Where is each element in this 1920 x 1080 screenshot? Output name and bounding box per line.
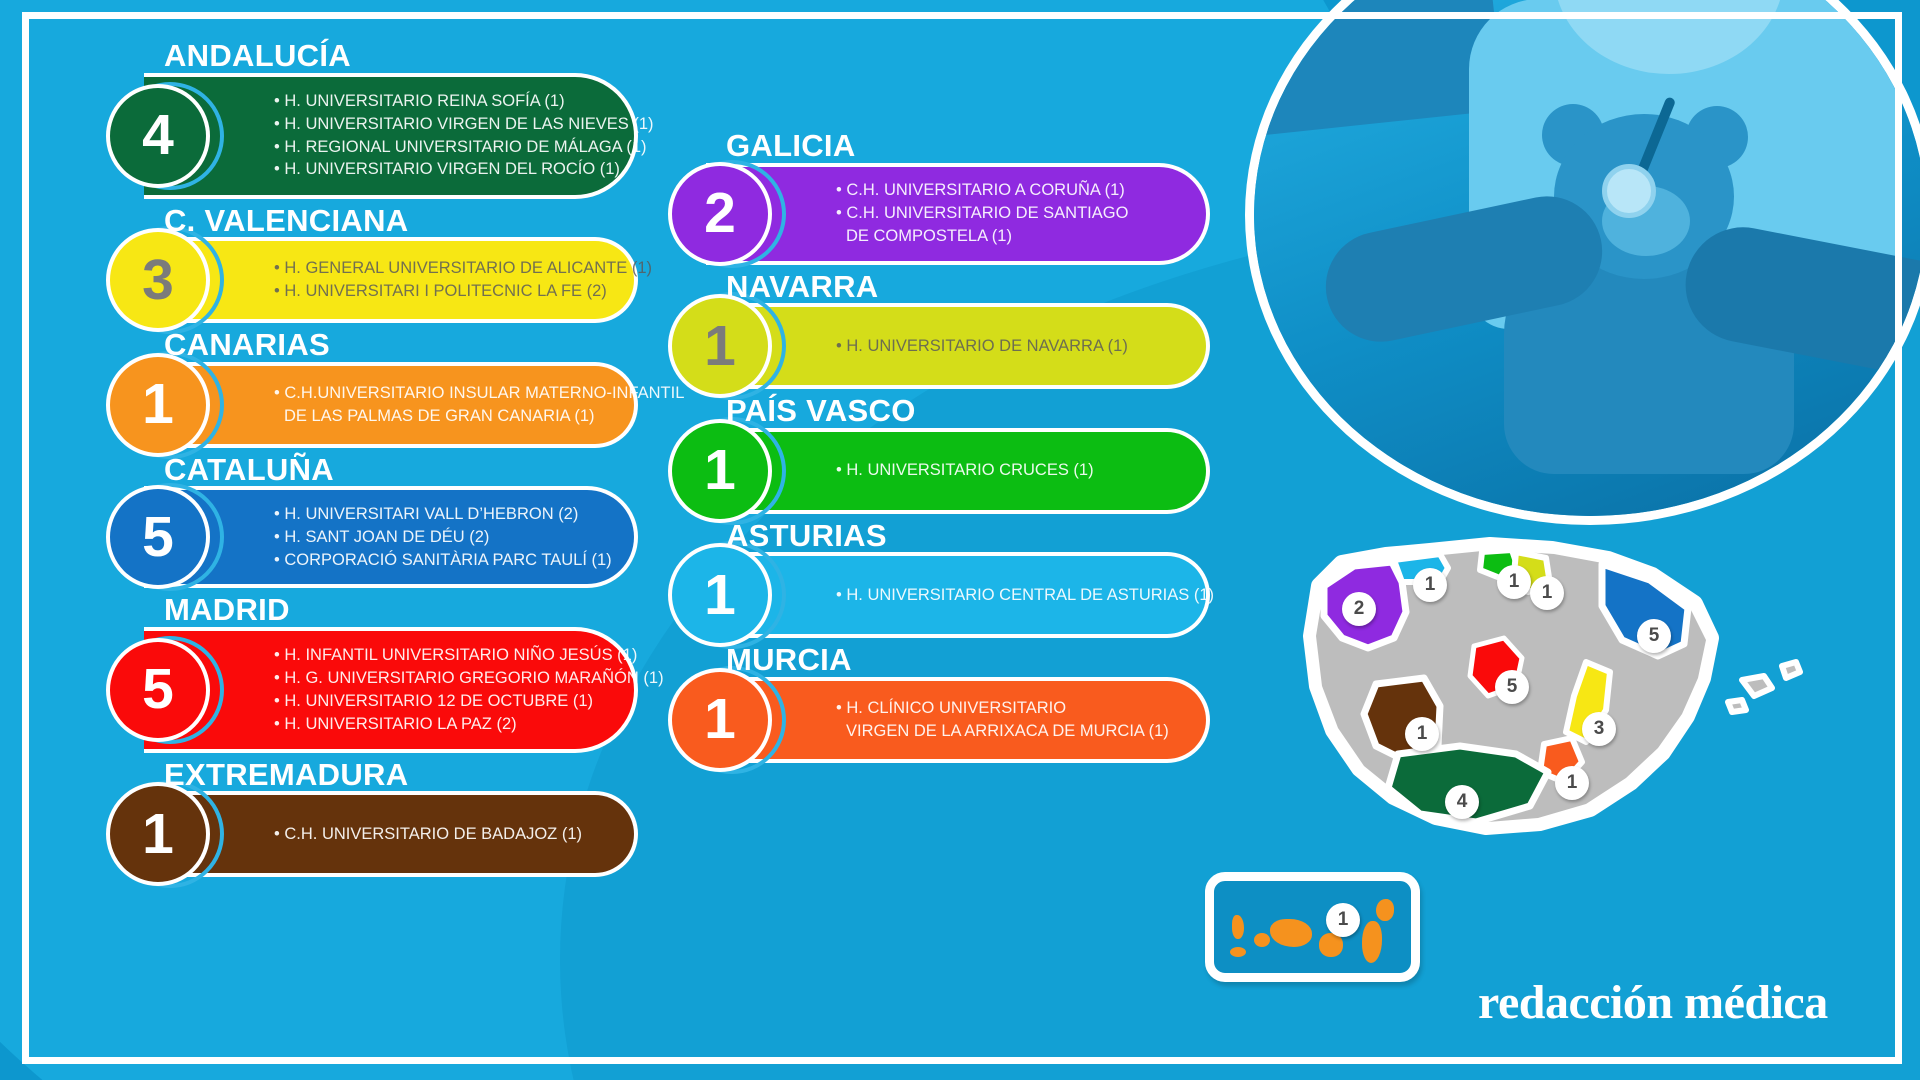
canary-isle-el-hierro bbox=[1230, 947, 1246, 957]
hospital-list-item: • C.H. UNIVERSITARIO DE BADAJOZ (1) bbox=[274, 823, 582, 846]
region-title: NAVARRA bbox=[726, 271, 1210, 304]
stethoscope-chestpiece-icon bbox=[1602, 164, 1656, 218]
hospital-list: • H. UNIVERSITARIO CRUCES (1) bbox=[836, 459, 1094, 482]
photo-circle-child-with-teddy bbox=[1245, 0, 1920, 525]
region-count-bubble[interactable]: 1 bbox=[106, 782, 210, 886]
hospital-list-item: VIRGEN DE LA ARRIXACA DE MURCIA (1) bbox=[836, 720, 1169, 743]
map-marker-extremadura: 1 bbox=[1405, 717, 1439, 751]
region-title: GALICIA bbox=[726, 130, 1210, 163]
region-title: CATALUÑA bbox=[164, 454, 638, 487]
canary-islands-inset: 1 bbox=[1205, 872, 1420, 982]
hospital-list: • H. INFANTIL UNIVERSITARIO NIÑO JESÚS (… bbox=[274, 644, 664, 735]
canary-isle-tenerife bbox=[1270, 919, 1312, 947]
region-column-right: GALICIA• C.H. UNIVERSITARIO A CORUÑA (1)… bbox=[640, 130, 1210, 769]
hospital-list-item: • H. UNIVERSITARIO CRUCES (1) bbox=[836, 459, 1094, 482]
region-count-bubble[interactable]: 1 bbox=[668, 668, 772, 772]
hospital-list-item: • CORPORACIÓ SANITÀRIA PARC TAULÍ (1) bbox=[274, 549, 612, 572]
hospital-list: • H. UNIVERSITARIO REINA SOFÍA (1)• H. U… bbox=[274, 90, 654, 181]
canary-isle-la-palma bbox=[1232, 915, 1244, 939]
hospital-list: • H. CLÍNICO UNIVERSITARIOVIRGEN DE LA A… bbox=[836, 697, 1169, 743]
region-title: MADRID bbox=[164, 594, 638, 627]
map-marker-c-valenciana: 3 bbox=[1582, 712, 1616, 746]
map-marker-murcia: 1 bbox=[1555, 766, 1589, 800]
hospital-list-item: • C.H.UNIVERSITARIO INSULAR MATERNO-INFA… bbox=[274, 382, 684, 405]
region-title: ASTURIAS bbox=[726, 520, 1210, 553]
region-title: MURCIA bbox=[726, 644, 1210, 677]
map-marker-pais-vasco: 1 bbox=[1497, 565, 1531, 599]
canary-isle-la-gomera bbox=[1254, 933, 1270, 947]
canary-isle-fuerteventura bbox=[1362, 921, 1382, 963]
hospital-list-item: • H. UNIVERSITARIO CENTRAL DE ASTURIAS (… bbox=[836, 584, 1214, 607]
hospital-list: • H. UNIVERSITARIO DE NAVARRA (1) bbox=[836, 335, 1128, 358]
hospital-list-item: DE LAS PALMAS DE GRAN CANARIA (1) bbox=[274, 405, 684, 428]
region-row: ASTURIAS• H. UNIVERSITARIO CENTRAL DE AS… bbox=[640, 520, 1210, 639]
region-title: C. VALENCIANA bbox=[164, 205, 638, 238]
hospital-list-item: • H. UNIVERSITARIO REINA SOFÍA (1) bbox=[274, 90, 654, 113]
brand-logo: redacción médica bbox=[1478, 975, 1828, 1030]
region-count-bubble[interactable]: 1 bbox=[668, 419, 772, 523]
map-marker-madrid: 5 bbox=[1495, 670, 1529, 704]
hospital-list: • H. GENERAL UNIVERSITARIO DE ALICANTE (… bbox=[274, 257, 652, 303]
region-bar-wrapper: • C.H.UNIVERSITARIO INSULAR MATERNO-INFA… bbox=[78, 362, 638, 448]
region-count-bubble[interactable]: 4 bbox=[106, 84, 210, 188]
map-marker-asturias: 1 bbox=[1413, 568, 1447, 602]
hospital-list-item: • H. UNIVERSITARI VALL D’HEBRON (2) bbox=[274, 503, 612, 526]
hospital-list-item: • C.H. UNIVERSITARIO DE SANTIAGO bbox=[836, 202, 1128, 225]
region-count-bubble[interactable]: 3 bbox=[106, 228, 210, 332]
photo-content bbox=[1254, 0, 1920, 516]
hospital-list-item: • H. UNIVERSITARIO 12 DE OCTUBRE (1) bbox=[274, 690, 664, 713]
region-count-bubble[interactable]: 1 bbox=[668, 543, 772, 647]
map-marker-catalu-a: 5 bbox=[1637, 619, 1671, 653]
region-row: C. VALENCIANA• H. GENERAL UNIVERSITARIO … bbox=[78, 205, 638, 324]
hospital-list: • C.H.UNIVERSITARIO INSULAR MATERNO-INFA… bbox=[274, 382, 684, 428]
hospital-list-item: • H. REGIONAL UNIVERSITARIO DE MÁLAGA (1… bbox=[274, 136, 654, 159]
region-row: PAÍS VASCO• H. UNIVERSITARIO CRUCES (1)1 bbox=[640, 395, 1210, 514]
hospital-list-item: • C.H. UNIVERSITARIO A CORUÑA (1) bbox=[836, 179, 1128, 202]
region-bar-wrapper: • H. INFANTIL UNIVERSITARIO NIÑO JESÚS (… bbox=[78, 627, 638, 753]
region-title: ANDALUCÍA bbox=[164, 40, 638, 73]
region-row: NAVARRA• H. UNIVERSITARIO DE NAVARRA (1)… bbox=[640, 271, 1210, 390]
region-column-left: ANDALUCÍA• H. UNIVERSITARIO REINA SOFÍA … bbox=[78, 40, 638, 883]
region-row: MADRID• H. INFANTIL UNIVERSITARIO NIÑO J… bbox=[78, 594, 638, 753]
hospital-list-item: DE COMPOSTELA (1) bbox=[836, 225, 1128, 248]
region-row: CATALUÑA• H. UNIVERSITARI VALL D’HEBRON … bbox=[78, 454, 638, 589]
region-row: ANDALUCÍA• H. UNIVERSITARIO REINA SOFÍA … bbox=[78, 40, 638, 199]
map-marker-galicia: 2 bbox=[1342, 592, 1376, 626]
hospital-list-item: • H. UNIVERSITARIO DE NAVARRA (1) bbox=[836, 335, 1128, 358]
canary-isle-lanzarote bbox=[1376, 899, 1394, 921]
map-marker-navarra: 1 bbox=[1530, 576, 1564, 610]
hospital-list-item: • H. SANT JOAN DE DÉU (2) bbox=[274, 526, 612, 549]
region-bar-wrapper: • H. UNIVERSITARIO DE NAVARRA (1)1 bbox=[640, 303, 1210, 389]
hospital-list-item: • H. UNIVERSITARI I POLITECNIC LA FE (2) bbox=[274, 280, 652, 303]
region-bar-wrapper: • H. UNIVERSITARIO CRUCES (1)1 bbox=[640, 428, 1210, 514]
hospital-list: • H. UNIVERSITARIO CENTRAL DE ASTURIAS (… bbox=[836, 584, 1214, 607]
region-count-bubble[interactable]: 5 bbox=[106, 638, 210, 742]
hospital-list-item: • H. UNIVERSITARIO LA PAZ (2) bbox=[274, 713, 664, 736]
map-marker-andaluc-a: 4 bbox=[1445, 785, 1479, 819]
region-count-bubble[interactable]: 2 bbox=[668, 162, 772, 266]
region-row: GALICIA• C.H. UNIVERSITARIO A CORUÑA (1)… bbox=[640, 130, 1210, 265]
hospital-list-item: • H. GENERAL UNIVERSITARIO DE ALICANTE (… bbox=[274, 257, 652, 280]
region-count-bubble[interactable]: 5 bbox=[106, 485, 210, 589]
region-bar-wrapper: • H. CLÍNICO UNIVERSITARIOVIRGEN DE LA A… bbox=[640, 677, 1210, 763]
map-marker-canarias: 1 bbox=[1326, 903, 1360, 937]
region-bar-wrapper: • C.H. UNIVERSITARIO A CORUÑA (1)• C.H. … bbox=[640, 163, 1210, 265]
region-bar-wrapper: • H. UNIVERSITARIO REINA SOFÍA (1)• H. U… bbox=[78, 73, 638, 199]
hospital-list-item: • H. INFANTIL UNIVERSITARIO NIÑO JESÚS (… bbox=[274, 644, 664, 667]
hospital-list: • H. UNIVERSITARI VALL D’HEBRON (2)• H. … bbox=[274, 503, 612, 571]
region-title: CANARIAS bbox=[164, 329, 638, 362]
hospital-list: • C.H. UNIVERSITARIO DE BADAJOZ (1) bbox=[274, 823, 582, 846]
region-bar-wrapper: • H. UNIVERSITARI VALL D’HEBRON (2)• H. … bbox=[78, 486, 638, 588]
region-row: CANARIAS• C.H.UNIVERSITARIO INSULAR MATE… bbox=[78, 329, 638, 448]
hospital-list: • C.H. UNIVERSITARIO A CORUÑA (1)• C.H. … bbox=[836, 179, 1128, 247]
hospital-list-item: • H. UNIVERSITARIO VIRGEN DEL ROCÍO (1) bbox=[274, 158, 654, 181]
region-count-bubble[interactable]: 1 bbox=[106, 353, 210, 457]
hospital-list-item: • H. G. UNIVERSITARIO GREGORIO MARAÑÓN (… bbox=[274, 667, 664, 690]
map-region-baleares bbox=[1728, 662, 1800, 712]
region-row: EXTREMADURA• C.H. UNIVERSITARIO DE BADAJ… bbox=[78, 759, 638, 878]
region-title: PAÍS VASCO bbox=[726, 395, 1210, 428]
region-bar-wrapper: • C.H. UNIVERSITARIO DE BADAJOZ (1)1 bbox=[78, 791, 638, 877]
region-bar-wrapper: • H. UNIVERSITARIO CENTRAL DE ASTURIAS (… bbox=[640, 552, 1210, 638]
region-title: EXTREMADURA bbox=[164, 759, 638, 792]
hospital-list-item: • H. CLÍNICO UNIVERSITARIO bbox=[836, 697, 1169, 720]
region-bar-wrapper: • H. GENERAL UNIVERSITARIO DE ALICANTE (… bbox=[78, 237, 638, 323]
region-count-bubble[interactable]: 1 bbox=[668, 294, 772, 398]
region-row: MURCIA• H. CLÍNICO UNIVERSITARIOVIRGEN D… bbox=[640, 644, 1210, 763]
hospital-list-item: • H. UNIVERSITARIO VIRGEN DE LAS NIEVES … bbox=[274, 113, 654, 136]
